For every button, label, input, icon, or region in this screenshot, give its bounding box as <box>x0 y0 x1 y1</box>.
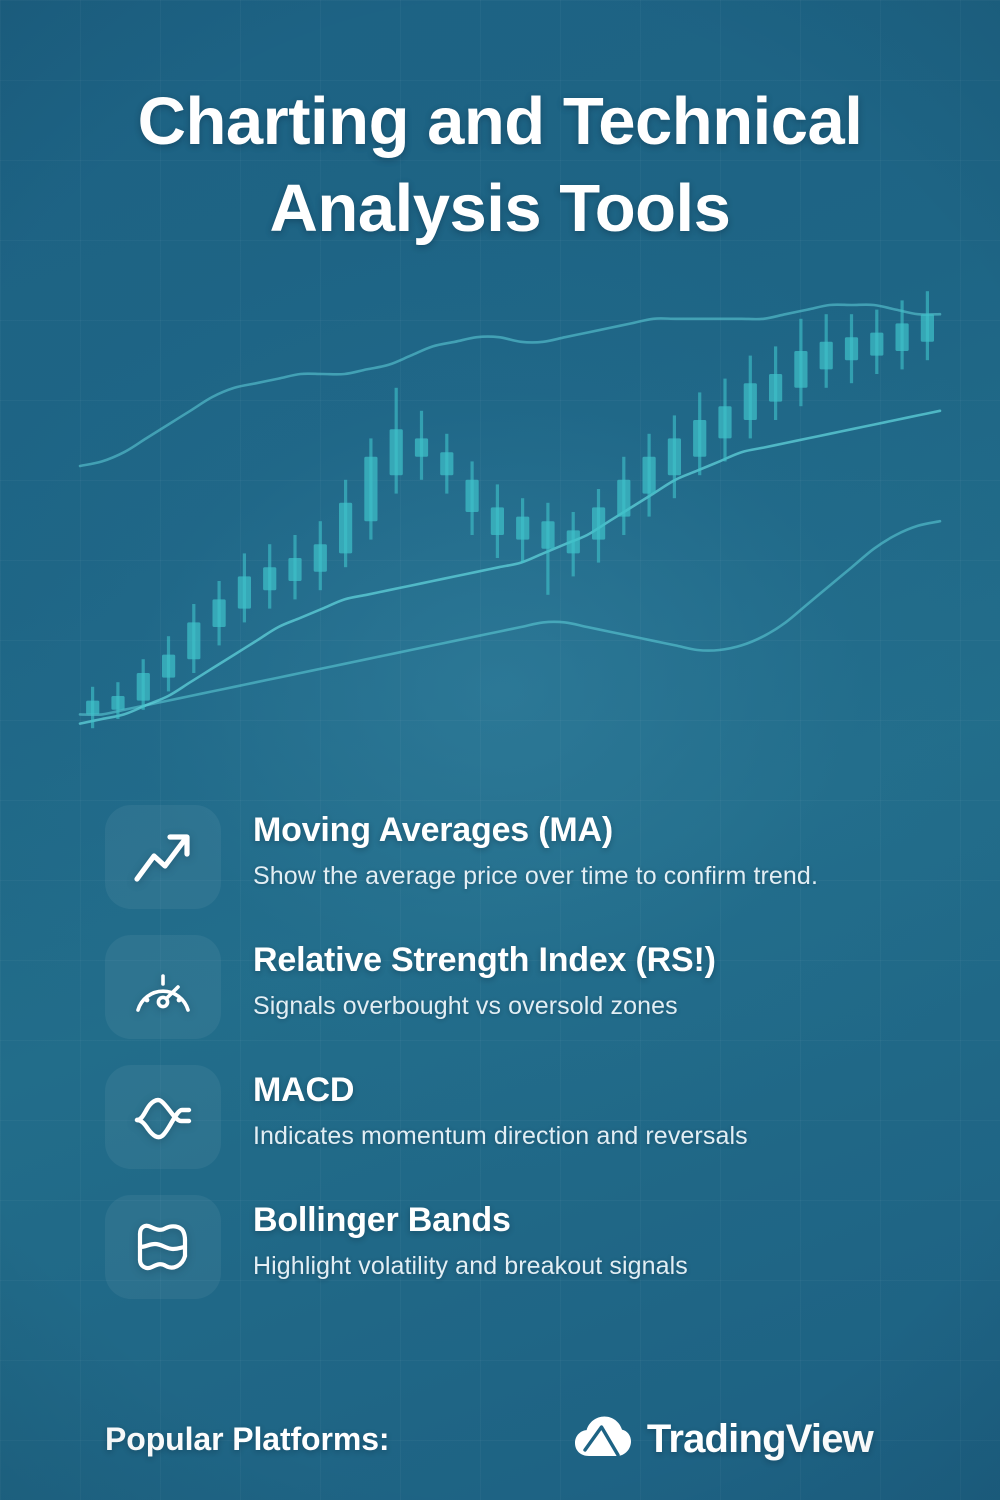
candle-series <box>86 291 934 728</box>
candle-body <box>187 622 200 659</box>
trending-up-icon <box>105 805 221 909</box>
candle-body <box>213 599 226 627</box>
feature-title: Relative Strength Index (RS!) <box>253 941 716 980</box>
candle-body <box>339 503 352 554</box>
candle-body <box>111 696 124 710</box>
candle-body <box>820 342 833 370</box>
candle-body <box>162 655 175 678</box>
candle-body <box>390 429 403 475</box>
platforms-label: Popular Platforms: <box>105 1421 389 1458</box>
feature-text: Bollinger Bands Highlight volatility and… <box>253 1195 688 1283</box>
lower-band-line <box>80 521 940 715</box>
infographic-root: Charting and Technical Analysis Tools Mo… <box>0 0 1000 1500</box>
candle-body <box>668 438 681 475</box>
candle-body <box>137 673 150 701</box>
candle-body <box>288 558 301 581</box>
feature-text: Moving Averages (MA) Show the average pr… <box>253 805 818 893</box>
feature-item-bollinger-bands[interactable]: Bollinger Bands Highlight volatility and… <box>105 1195 985 1299</box>
candle-body <box>744 383 757 420</box>
candle-body <box>643 457 656 494</box>
candle-body <box>617 480 630 517</box>
header: Charting and Technical Analysis Tools <box>0 78 1000 252</box>
footer: Popular Platforms: TradingView <box>0 1415 1000 1464</box>
candle-body <box>845 337 858 360</box>
candle-body <box>718 406 731 438</box>
feature-text: Relative Strength Index (RS!) Signals ov… <box>253 935 716 1023</box>
feature-description: Show the average price over time to conf… <box>253 861 818 892</box>
feature-list: Moving Averages (MA) Show the average pr… <box>105 805 985 1299</box>
feature-title: Bollinger Bands <box>253 1201 688 1240</box>
feature-item-rsi[interactable]: Relative Strength Index (RS!) Signals ov… <box>105 935 985 1039</box>
page-title: Charting and Technical Analysis Tools <box>60 78 940 252</box>
candle-body <box>238 576 251 608</box>
candle-body <box>263 567 276 590</box>
candle-body <box>364 457 377 521</box>
candle-body <box>466 480 479 512</box>
feature-description: Signals overbought vs oversold zones <box>253 991 716 1022</box>
feature-title: MACD <box>253 1071 748 1110</box>
candle-body <box>541 521 554 549</box>
candle-body <box>896 323 909 351</box>
candle-body <box>794 351 807 388</box>
candle-body <box>415 438 428 456</box>
candle-body <box>516 517 529 540</box>
bollinger-bands-icon <box>105 1195 221 1299</box>
feature-text: MACD Indicates momentum direction and re… <box>253 1065 748 1153</box>
gauge-icon <box>105 935 221 1039</box>
brand-name: TradingView <box>647 1417 873 1462</box>
candle-body <box>314 544 327 572</box>
feature-description: Indicates momentum direction and reversa… <box>253 1121 748 1152</box>
upper-band-line <box>80 305 940 466</box>
brand-tradingview[interactable]: TradingView <box>574 1415 895 1464</box>
candle-body <box>86 701 99 715</box>
macd-crossover-icon <box>105 1065 221 1169</box>
tradingview-logo-icon <box>574 1415 632 1464</box>
candle-body <box>567 530 580 553</box>
feature-item-macd[interactable]: MACD Indicates momentum direction and re… <box>105 1065 985 1169</box>
candle-body <box>440 452 453 475</box>
candle-body <box>491 507 504 535</box>
chart-svg <box>0 262 1000 762</box>
candle-body <box>921 314 934 342</box>
feature-title: Moving Averages (MA) <box>253 811 818 850</box>
candle-body <box>693 420 706 457</box>
candle-body <box>769 374 782 402</box>
moving-average-line <box>80 411 940 724</box>
feature-item-moving-averages[interactable]: Moving Averages (MA) Show the average pr… <box>105 805 985 909</box>
feature-description: Highlight volatility and breakout signal… <box>253 1251 688 1282</box>
candlestick-chart <box>0 262 1000 762</box>
candle-body <box>592 507 605 539</box>
candle-body <box>870 333 883 356</box>
